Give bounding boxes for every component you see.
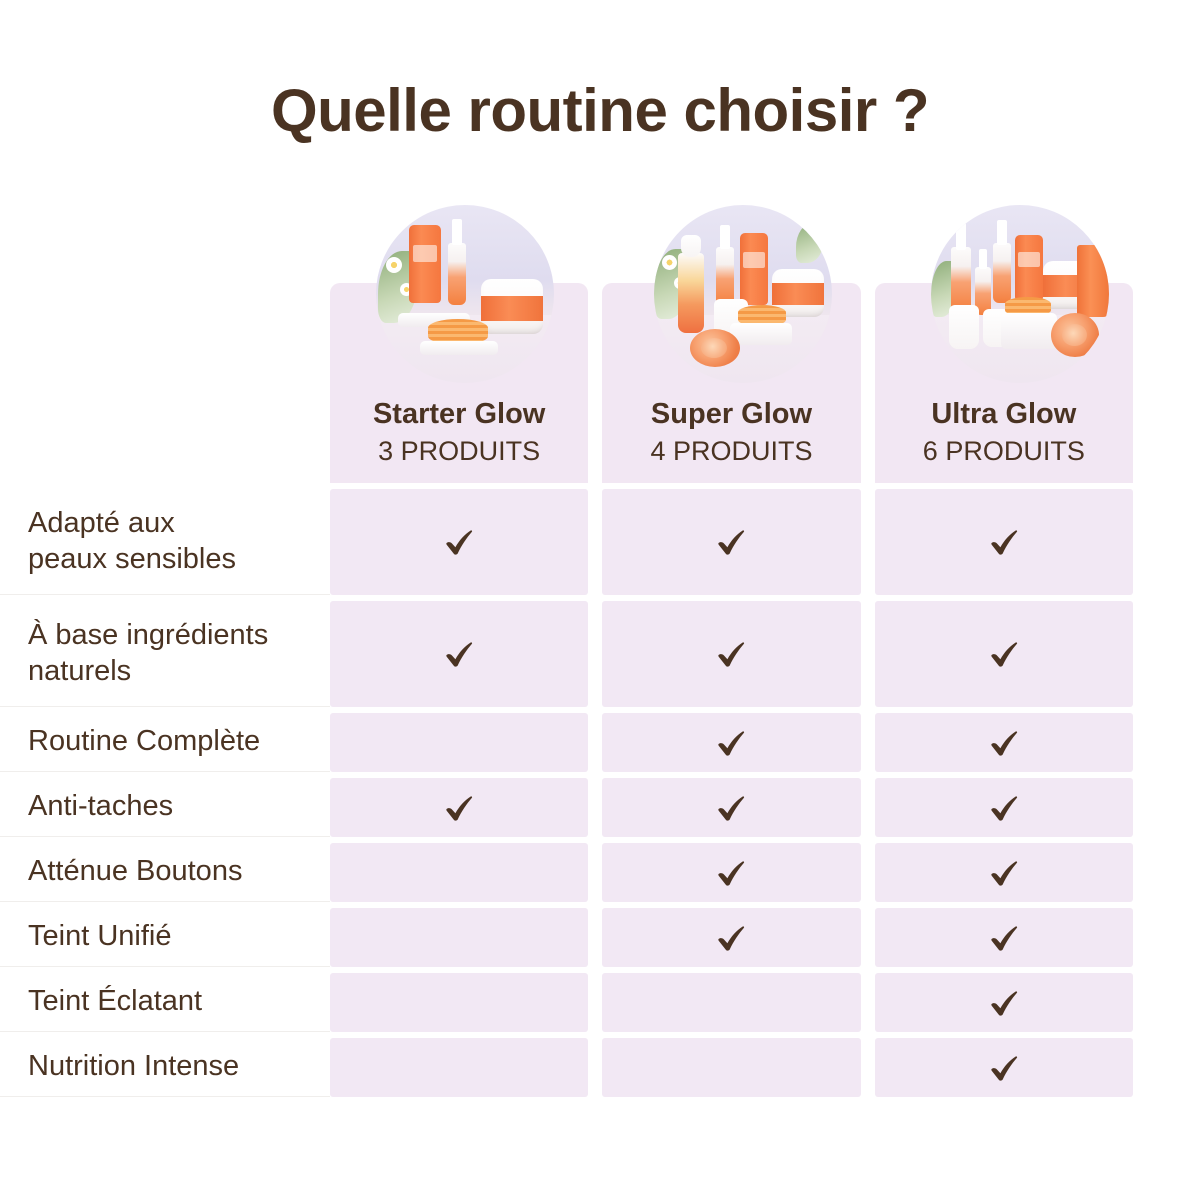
comparison-page: Quelle routine choisir ? xyxy=(0,0,1200,1200)
check-mark-icon xyxy=(987,1051,1021,1085)
check-mark-icon xyxy=(987,525,1021,559)
feature-label: Anti-taches xyxy=(0,778,330,837)
page-title: Quelle routine choisir ? xyxy=(0,76,1200,145)
feature-cell xyxy=(330,843,588,902)
feature-cell xyxy=(875,713,1133,772)
feature-cell xyxy=(875,778,1133,837)
feature-label: Routine Complète xyxy=(0,713,330,772)
check-mark-icon xyxy=(714,726,748,760)
column-header-super-glow[interactable]: Super Glow 4 PRODUITS xyxy=(602,283,860,483)
feature-cell xyxy=(602,908,860,967)
check-mark-icon xyxy=(987,856,1021,890)
feature-cell xyxy=(330,489,588,595)
feature-label: Teint Unifié xyxy=(0,908,330,967)
column-header-starter-glow[interactable]: Starter Glow 3 PRODUITS xyxy=(330,283,588,483)
feature-cell xyxy=(875,908,1133,967)
feature-label: Teint Éclatant xyxy=(0,973,330,1032)
feature-label: Nutrition Intense xyxy=(0,1038,330,1097)
feature-row: Nutrition Intense xyxy=(0,1038,1200,1097)
feature-cell xyxy=(330,713,588,772)
check-mark-icon xyxy=(987,986,1021,1020)
check-mark-icon xyxy=(714,525,748,559)
feature-cell xyxy=(602,843,860,902)
feature-cell xyxy=(875,1038,1133,1097)
check-mark-icon xyxy=(714,791,748,825)
column-header-ultra-glow[interactable]: Ultra Glow 6 PRODUITS xyxy=(875,283,1133,483)
feature-label: Atténue Boutons xyxy=(0,843,330,902)
feature-label: Adapté aux peaux sensibles xyxy=(0,489,330,595)
feature-cell xyxy=(875,843,1133,902)
check-mark-icon xyxy=(442,525,476,559)
feature-cell xyxy=(330,973,588,1032)
column-product-count: 6 PRODUITS xyxy=(923,435,1085,467)
feature-row: Routine Complète xyxy=(0,713,1200,772)
feature-cell xyxy=(602,778,860,837)
check-mark-icon xyxy=(987,791,1021,825)
feature-cell xyxy=(602,489,860,595)
feature-cell xyxy=(330,601,588,707)
feature-label: À base ingrédients naturels xyxy=(0,601,330,707)
column-product-count: 4 PRODUITS xyxy=(650,435,812,467)
feature-cell xyxy=(330,908,588,967)
check-mark-icon xyxy=(987,637,1021,671)
feature-cell xyxy=(330,778,588,837)
header-label-spacer xyxy=(0,283,330,483)
check-mark-icon xyxy=(714,637,748,671)
feature-row: Teint Unifié xyxy=(0,908,1200,967)
feature-row: À base ingrédients naturels xyxy=(0,601,1200,707)
feature-cell xyxy=(330,1038,588,1097)
feature-row: Anti-taches xyxy=(0,778,1200,837)
column-headers: Starter Glow 3 PRODUITS Super Glow 4 PRO… xyxy=(0,283,1200,483)
feature-cell xyxy=(602,601,860,707)
feature-row: Teint Éclatant xyxy=(0,973,1200,1032)
check-mark-icon xyxy=(442,791,476,825)
feature-cell xyxy=(875,601,1133,707)
column-title: Starter Glow xyxy=(373,398,545,431)
column-product-count: 3 PRODUITS xyxy=(378,435,540,467)
feature-cell xyxy=(875,973,1133,1032)
feature-rows: Adapté aux peaux sensiblesÀ base ingrédi… xyxy=(0,489,1200,1103)
feature-row: Adapté aux peaux sensibles xyxy=(0,489,1200,595)
check-mark-icon xyxy=(714,856,748,890)
check-mark-icon xyxy=(714,921,748,955)
check-mark-icon xyxy=(987,726,1021,760)
feature-cell xyxy=(875,489,1133,595)
feature-cell xyxy=(602,713,860,772)
feature-row: Atténue Boutons xyxy=(0,843,1200,902)
check-mark-icon xyxy=(442,637,476,671)
feature-cell xyxy=(602,973,860,1032)
feature-cell xyxy=(602,1038,860,1097)
column-title: Ultra Glow xyxy=(931,398,1076,431)
check-mark-icon xyxy=(987,921,1021,955)
column-title: Super Glow xyxy=(651,398,812,431)
